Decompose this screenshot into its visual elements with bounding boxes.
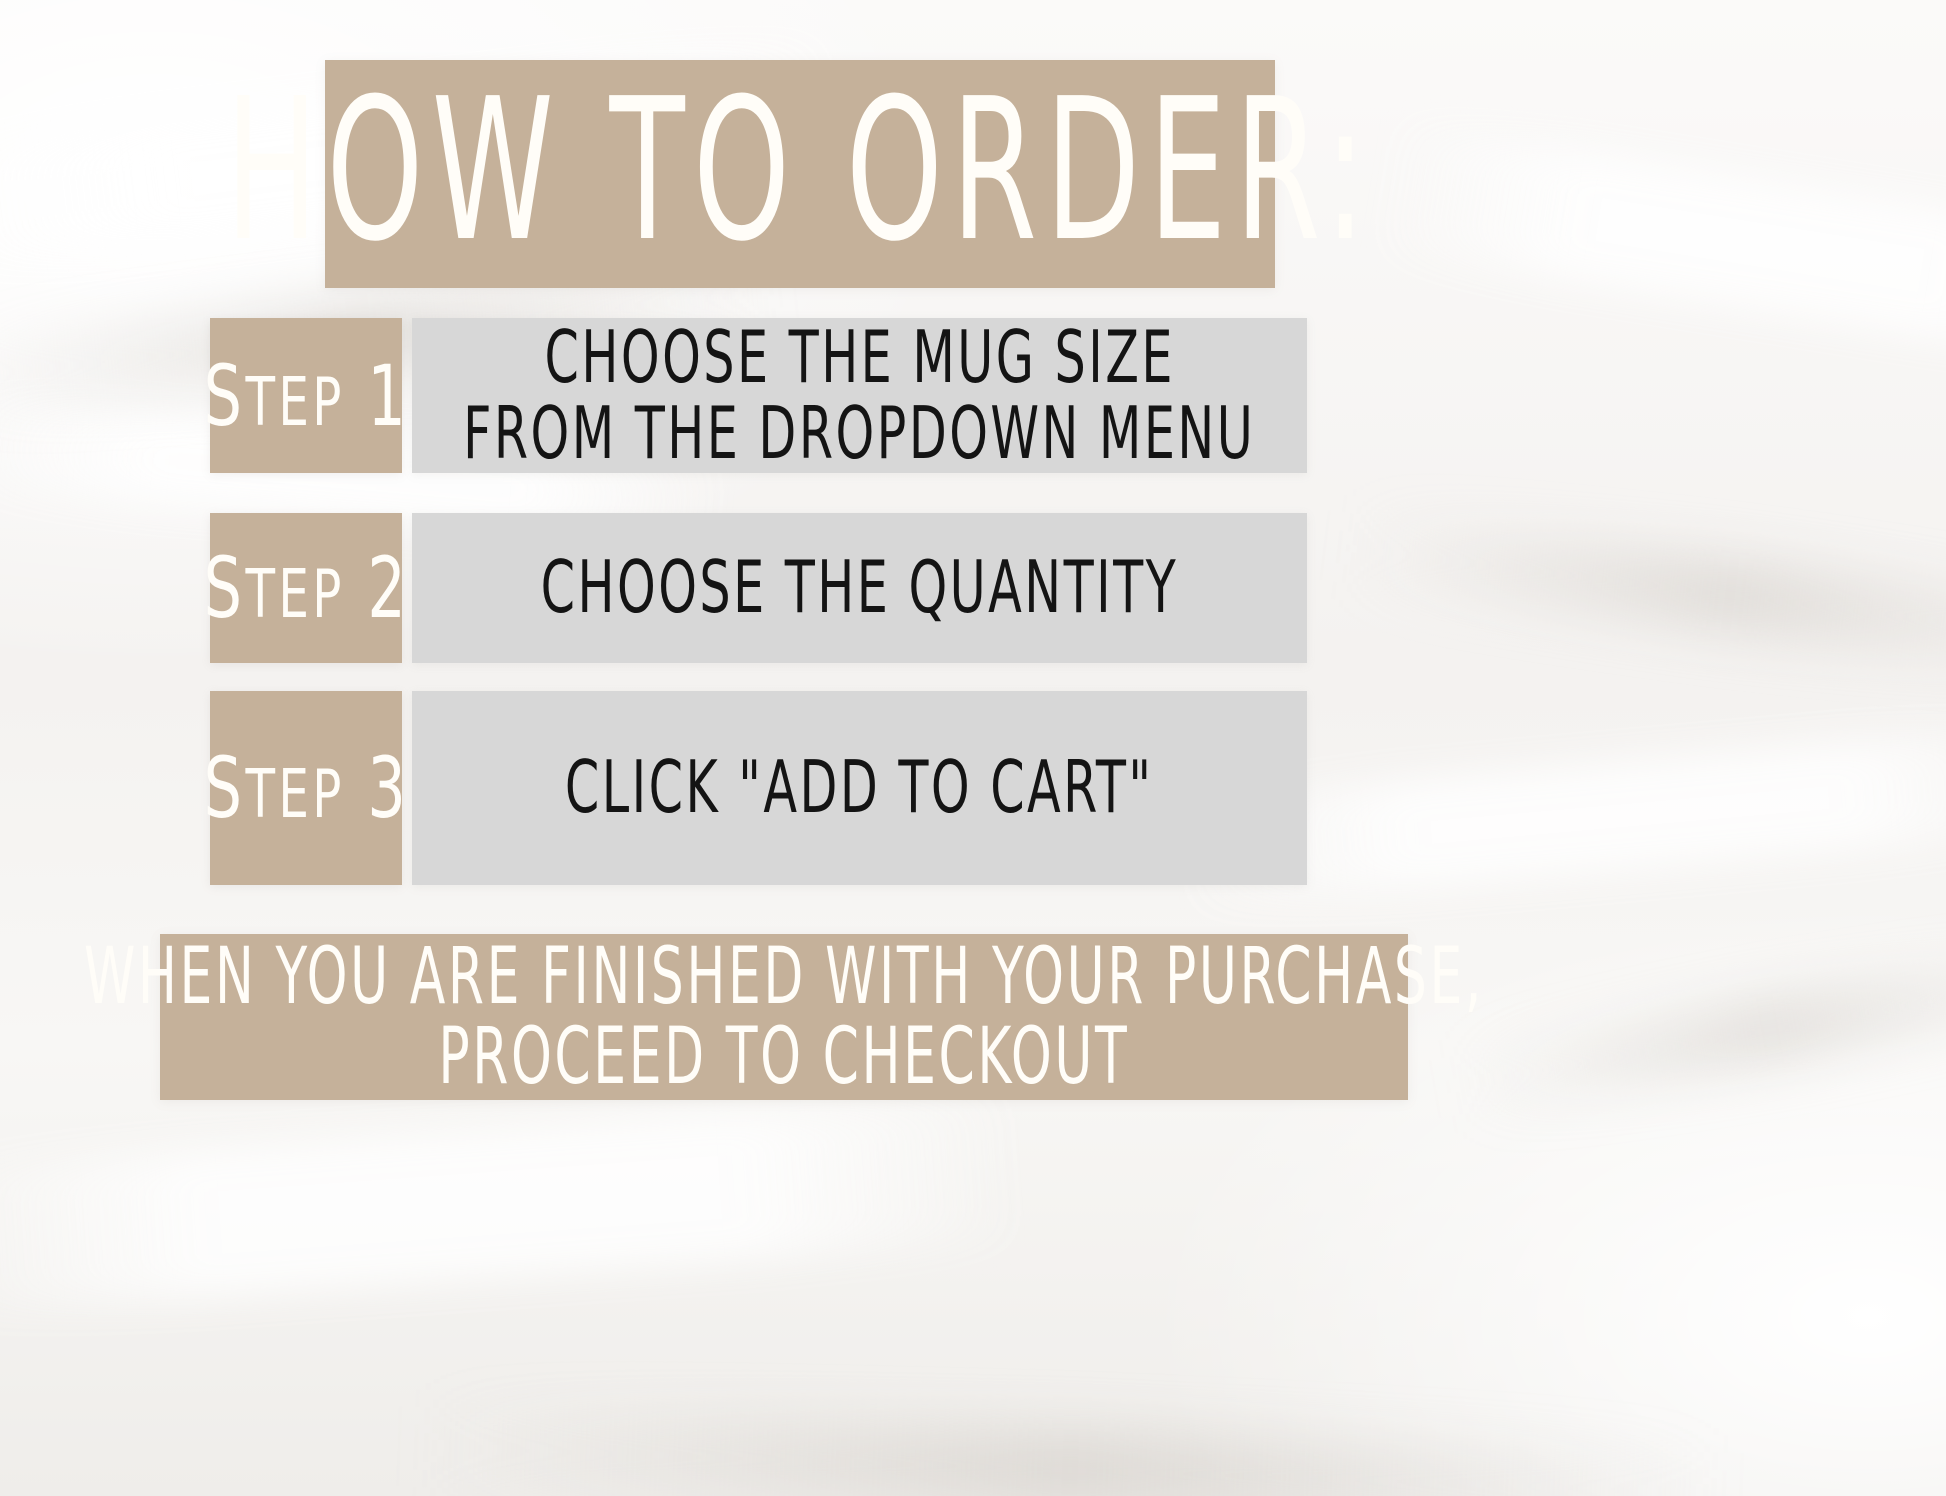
step-3-line-1: Click "Add to cart" xyxy=(565,750,1154,826)
step-2-line-1: Choose the quantity xyxy=(541,550,1178,626)
step-2-chip-initial: S xyxy=(203,539,245,637)
step-1-chip-number: 1 xyxy=(367,347,409,445)
step-2-chip-word: TEP xyxy=(245,555,344,633)
step-1-chip-initial: S xyxy=(203,347,245,445)
step-3-body: Click "Add to cart" xyxy=(412,691,1307,885)
step-3-chip-label: STEP 3 xyxy=(203,746,408,830)
step-1-line-1: Choose the mug size xyxy=(544,320,1174,396)
checkout-line-2: proceed to checkout xyxy=(439,1017,1130,1097)
step-2-body: Choose the quantity xyxy=(412,513,1307,663)
step-3-chip-number: 3 xyxy=(367,739,409,837)
step-3-chip: STEP 3 xyxy=(210,691,402,885)
step-2-chip-number: 2 xyxy=(367,539,409,637)
checkout-banner: When you are finished with your purchase… xyxy=(160,934,1408,1100)
step-1-chip: STEP 1 xyxy=(210,318,402,473)
how-to-order-graphic: How to Order: STEP 1 Choose the mug size… xyxy=(0,0,1946,1496)
step-3-chip-initial: S xyxy=(203,739,245,837)
step-2-chip: STEP 2 xyxy=(210,513,402,663)
step-1-body: Choose the mug size from the dropdown me… xyxy=(412,318,1307,473)
step-2-chip-label: STEP 2 xyxy=(203,546,408,630)
step-3-chip-word: TEP xyxy=(245,755,344,833)
step-1-chip-word: TEP xyxy=(245,363,344,441)
step-1-chip-label: STEP 1 xyxy=(203,354,408,438)
checkout-line-1: When you are finished with your purchase… xyxy=(84,937,1484,1017)
step-1-line-2: from the dropdown menu xyxy=(463,396,1255,472)
steps-list: STEP 1 Choose the mug size from the drop… xyxy=(0,0,1946,1496)
